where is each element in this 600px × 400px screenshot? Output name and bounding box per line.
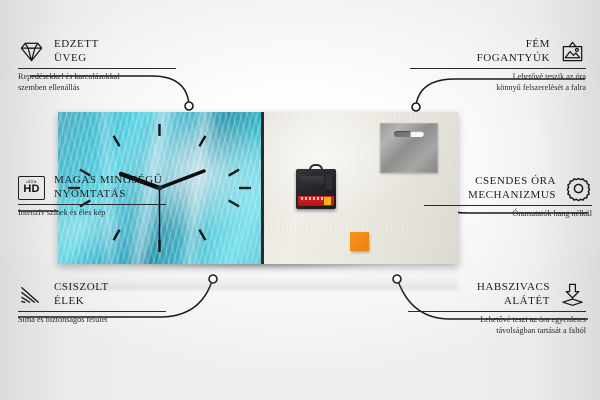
callout-divider	[18, 68, 176, 69]
callout-description: Lehetővé teszi az óra egyenletes távolsá…	[408, 315, 586, 336]
callout-title: CSENDES ÓRA MECHANIZMUS	[468, 175, 556, 202]
callout-description: Repedésekkel és karcolásokkal szemben el…	[18, 72, 176, 93]
callout-header: FÉM FOGANTYÚK	[410, 38, 586, 65]
feature-callout-tempered-glass: EDZETT ÜVEG Repedésekkel és karcolásokka…	[18, 38, 176, 93]
mechanism-detail-top	[300, 176, 324, 185]
ultra-hd-badge-icon: ultra HD	[18, 176, 45, 200]
mechanism-hook	[309, 164, 323, 172]
callout-header: HABSZIVACS ALÁTÉT	[408, 281, 586, 308]
callout-title: FÉM FOGANTYÚK	[477, 38, 550, 65]
battery-label-text	[301, 197, 323, 200]
battery-plus-marker	[324, 197, 331, 205]
callout-title: CSISZOLT ÉLEK	[54, 281, 109, 308]
callout-divider	[18, 311, 166, 312]
callout-divider	[18, 204, 166, 205]
callout-title: MAGAS MINŐSÉGŰ NYOMTATÁS	[54, 174, 162, 201]
connector-dot-4	[412, 103, 420, 111]
connector-dot-1	[185, 102, 193, 110]
polished-edges-icon	[18, 281, 45, 308]
callout-description: Sima és biztonságos felület	[18, 315, 166, 326]
feature-callout-silent-mechanism: CSENDES ÓRA MECHANIZMUS Óramutatók hang …	[424, 175, 592, 220]
callout-divider	[408, 311, 586, 312]
foam-spacer-pad	[350, 232, 369, 251]
callout-title: HABSZIVACS ALÁTÉT	[477, 281, 550, 308]
feature-callout-foam-pad: HABSZIVACS ALÁTÉT Lehetővé teszi az óra …	[408, 281, 586, 336]
callout-header: CSISZOLT ÉLEK	[18, 281, 166, 308]
callout-header: ultra HD MAGAS MINŐSÉGŰ NYOMTATÁS	[18, 174, 166, 201]
mechanism-detail-side	[326, 175, 332, 189]
feature-callout-hd-print: ultra HD MAGAS MINŐSÉGŰ NYOMTATÁS Intenz…	[18, 174, 166, 219]
foam-pad-icon	[559, 281, 586, 308]
callout-description: Intenzív színek és éles kép	[18, 208, 166, 219]
callout-divider	[410, 68, 586, 69]
badge-hd-text: HD	[23, 184, 39, 195]
callout-title: EDZETT ÜVEG	[54, 38, 99, 65]
infographic-stage: EDZETT ÜVEG Repedésekkel és karcolásokka…	[0, 0, 600, 400]
callout-divider	[424, 205, 592, 206]
clock-mechanism-module	[296, 169, 336, 209]
gear-icon	[565, 175, 592, 202]
callout-description: Lehetővé teszik az óra könnyű felszerelé…	[410, 72, 586, 93]
callout-header: CSENDES ÓRA MECHANIZMUS	[424, 175, 592, 202]
callout-description: Óramutatók hang nélkül	[424, 209, 592, 220]
feature-callout-metal-handles: FÉM FOGANTYÚK Lehetővé teszik az óra kön…	[410, 38, 586, 93]
metal-hanger-plate	[380, 123, 438, 173]
frame-hanger-icon	[559, 38, 586, 65]
diamond-icon	[18, 38, 45, 65]
hanger-slot	[394, 131, 424, 137]
callout-header: EDZETT ÜVEG	[18, 38, 176, 65]
feature-callout-polished-edges: CSISZOLT ÉLEK Sima és biztonságos felüle…	[18, 281, 166, 326]
